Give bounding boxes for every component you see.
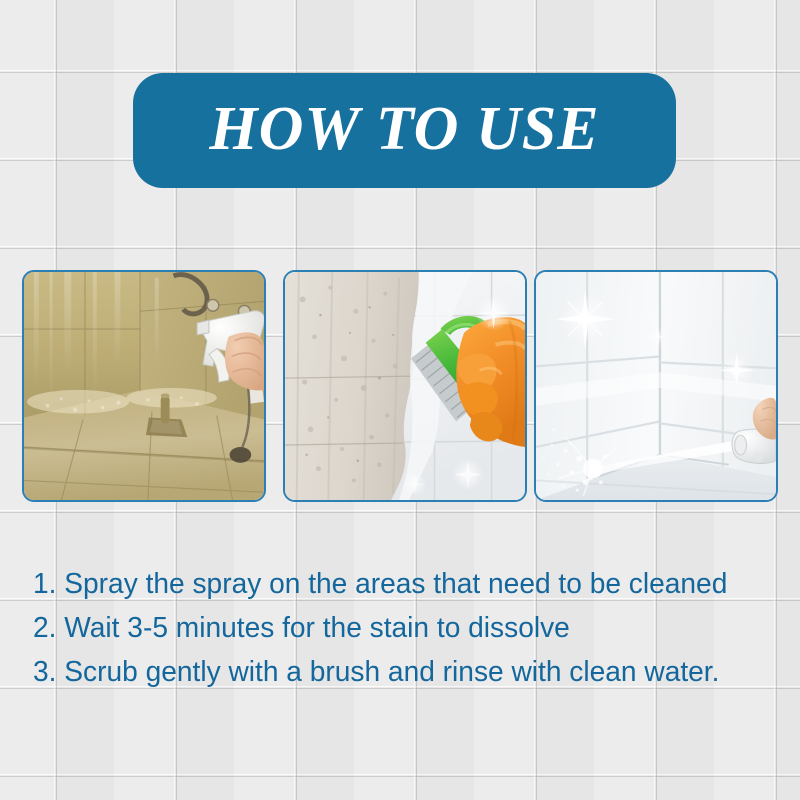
title-banner: HOW TO USE: [133, 73, 676, 188]
sparkle-icon: [403, 473, 427, 497]
clean-tile-photo: [536, 272, 776, 500]
scrubbing-illustration: [285, 272, 525, 500]
instruction-line-3: 3. Scrub gently with a brush and rinse w…: [33, 650, 751, 694]
step-image-2: [283, 270, 527, 502]
step-image-3: [534, 270, 778, 502]
instruction-list: 1. Spray the spray on the areas that nee…: [33, 562, 773, 694]
sparkle-icon: [452, 459, 483, 490]
dirty-tile-photo: [24, 272, 264, 500]
scrubbing-photo: [285, 272, 525, 500]
instruction-line-1: 1. Spray the spray on the areas that nee…: [33, 562, 751, 606]
page-title: HOW TO USE: [209, 98, 599, 160]
step-image-1: [22, 270, 266, 502]
dirty-bathroom-illustration: [24, 272, 264, 500]
sparkle-icon: [648, 327, 668, 347]
sparkle-icon: [476, 296, 511, 331]
instruction-line-2: 2. Wait 3-5 minutes for the stain to dis…: [33, 606, 751, 650]
rinsing-illustration: [536, 272, 776, 500]
